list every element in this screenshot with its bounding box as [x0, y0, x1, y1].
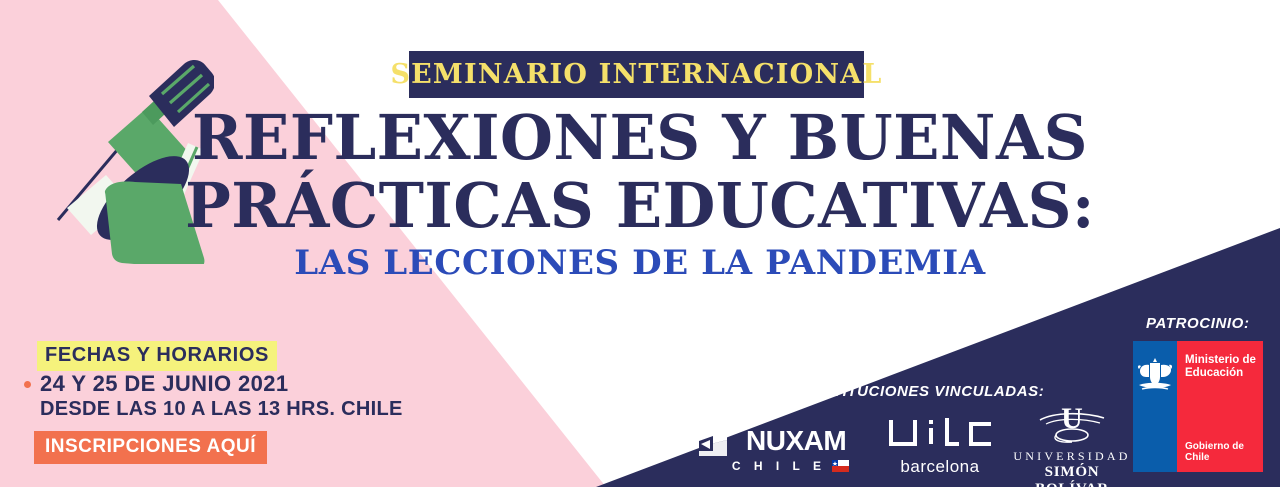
usb-line-2: SIMÓN BOLÍVAR	[1012, 464, 1132, 487]
seminar-banner-label: SEMINARIO INTERNACIONAL	[390, 59, 882, 90]
uic-wordmark-icon	[885, 418, 995, 450]
ministry-flag-blue-panel	[1133, 341, 1177, 472]
usb-crest-icon: U	[1012, 404, 1132, 444]
schedule-date-row: 24 Y 25 DE JUNIO 2021	[24, 371, 289, 397]
ministry-name-line-1: Ministerio de	[1185, 354, 1256, 367]
seminar-poster: SEMINARIO INTERNACIONAL REFLEXIONES Y BU…	[0, 0, 1280, 487]
logo-nuxam[interactable]: NUXAM C H I L E	[697, 424, 849, 470]
logo-universidad-simon-bolivar[interactable]: U UNIVERSIDAD SIMÓN BOLÍVAR	[1012, 404, 1132, 474]
chile-flag-icon	[832, 460, 849, 472]
seminar-banner: SEMINARIO INTERNACIONAL	[409, 51, 864, 98]
page-title: REFLEXIONES Y BUENAS PRÁCTICAS EDUCATIVA…	[0, 104, 1280, 240]
nuxam-wordmark: NUXAM	[746, 427, 846, 455]
institutions-label: INSTITUCIONES VINCULADAS:	[806, 383, 1044, 400]
ministry-government-label: Gobierno de Chile	[1185, 441, 1263, 463]
usb-line-1: UNIVERSIDAD	[1012, 449, 1132, 464]
logo-uic-barcelona[interactable]: barcelona	[885, 418, 995, 472]
ministry-flag-red-panel: Ministerio de Educación Gobierno de Chil…	[1177, 341, 1263, 472]
ministry-name: Ministerio de Educación	[1185, 354, 1256, 380]
nuxam-country: C H I L E	[732, 459, 826, 473]
uic-city: barcelona	[885, 457, 995, 477]
schedule-time: DESDE LAS 10 A LAS 13 HRS. CHILE	[40, 398, 403, 421]
bullet-icon	[24, 381, 31, 388]
schedule-date: 24 Y 25 DE JUNIO 2021	[40, 371, 289, 397]
title-line-1: REFLEXIONES Y BUENAS	[13, 104, 1267, 172]
chile-coat-of-arms-icon	[1133, 355, 1177, 403]
schedule-heading: FECHAS Y HORARIOS	[37, 341, 277, 371]
sponsor-label: PATROCINIO:	[1146, 315, 1250, 332]
page-subtitle: LAS LECCIONES DE LA PANDEMIA	[0, 243, 1280, 283]
title-line-2: PRÁCTICAS EDUCATIVAS:	[13, 172, 1267, 240]
ministry-name-line-2: Educación	[1185, 367, 1256, 380]
ministry-of-education-logo[interactable]: Ministerio de Educación Gobierno de Chil…	[1133, 341, 1263, 472]
nuxam-mark-icon	[697, 424, 739, 458]
register-button[interactable]: INSCRIPCIONES AQUÍ	[34, 431, 267, 464]
